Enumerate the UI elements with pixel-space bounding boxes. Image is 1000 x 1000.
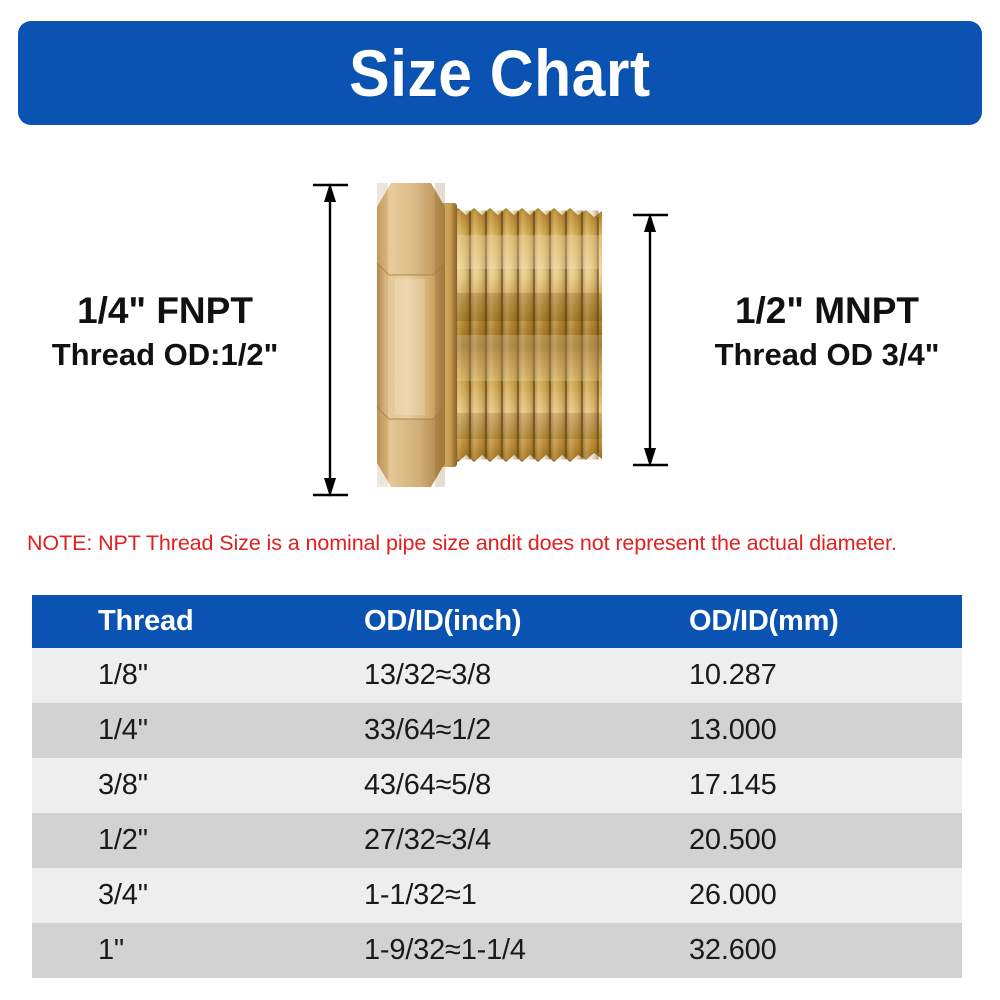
table-row: 1/4" 33/64≈1/2 13.000 [32, 703, 962, 758]
hex-head [377, 183, 445, 487]
right-spec-od: Thread OD 3/4" [672, 337, 982, 373]
left-spec-od: Thread OD:1/2" [20, 337, 310, 373]
right-spec-thread: 1/2" MNPT [672, 290, 982, 331]
cell-thread: 1/8" [32, 648, 322, 703]
cell-mm: 10.287 [657, 648, 962, 703]
cell-mm: 17.145 [657, 758, 962, 813]
left-spec-thread: 1/4" FNPT [20, 290, 310, 331]
cell-inch: 1-1/32≈1 [322, 868, 657, 923]
cell-thread: 1/4" [32, 703, 322, 758]
page-title: Size Chart [349, 40, 651, 106]
left-spec-label: 1/4" FNPT Thread OD:1/2" [20, 290, 310, 373]
table-row: 3/4" 1-1/32≈1 26.000 [32, 868, 962, 923]
size-chart-header-banner: Size Chart [18, 21, 982, 125]
table-row: 1/2" 27/32≈3/4 20.500 [32, 813, 962, 868]
cell-thread: 1/2" [32, 813, 322, 868]
column-header-od-id-inch: OD/ID(inch) [322, 595, 657, 648]
cell-thread: 1" [32, 923, 322, 978]
size-table: Thread OD/ID(inch) OD/ID(mm) 1/8" 13/32≈… [32, 595, 962, 978]
cell-mm: 20.500 [657, 813, 962, 868]
note-text: NOTE: NPT Thread Size is a nominal pipe … [27, 531, 977, 557]
cell-inch: 1-9/32≈1-1/4 [322, 923, 657, 978]
cell-mm: 26.000 [657, 868, 962, 923]
cell-inch: 43/64≈5/8 [322, 758, 657, 813]
cell-mm: 13.000 [657, 703, 962, 758]
male-thread-section [450, 208, 602, 462]
cell-inch: 27/32≈3/4 [322, 813, 657, 868]
cell-thread: 3/8" [32, 758, 322, 813]
table-row: 1" 1-9/32≈1-1/4 32.600 [32, 923, 962, 978]
right-spec-label: 1/2" MNPT Thread OD 3/4" [672, 290, 982, 373]
column-header-thread: Thread [32, 595, 322, 648]
cell-mm: 32.600 [657, 923, 962, 978]
table-row: 1/8" 13/32≈3/8 10.287 [32, 648, 962, 703]
column-header-od-id-mm: OD/ID(mm) [657, 595, 962, 648]
table-header-row: Thread OD/ID(inch) OD/ID(mm) [32, 595, 962, 648]
cell-thread: 3/4" [32, 868, 322, 923]
left-dimension-arrow-icon [300, 175, 360, 505]
cell-inch: 13/32≈3/8 [322, 648, 657, 703]
table-row: 3/8" 43/64≈5/8 17.145 [32, 758, 962, 813]
cell-inch: 33/64≈1/2 [322, 703, 657, 758]
product-diagram: 1/4" FNPT Thread OD:1/2" 1/2" MNPT Threa… [0, 150, 1000, 520]
brass-hex-bushing-image [355, 175, 630, 495]
